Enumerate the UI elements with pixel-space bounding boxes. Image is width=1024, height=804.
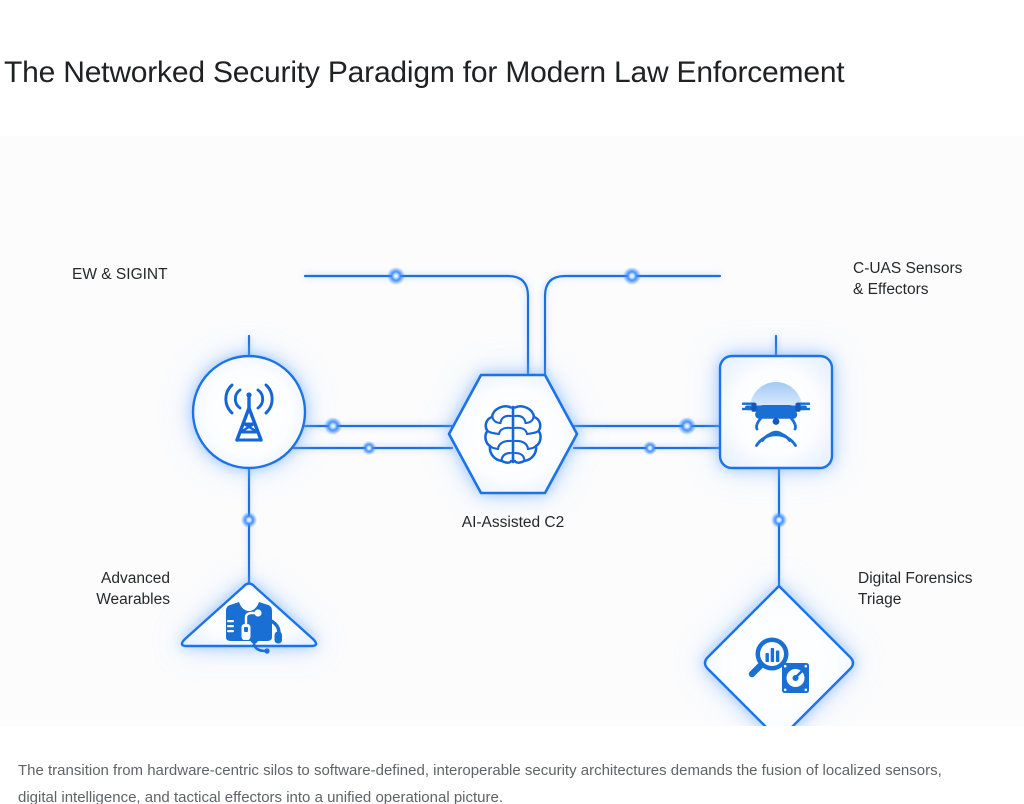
pulse-dot — [643, 441, 657, 455]
node-label-digital-forensics: Digital Forensics Triage — [858, 568, 973, 610]
diagram-page: The Networked Security Paradigm for Mode… — [0, 0, 1024, 804]
pulse-dot — [678, 417, 696, 435]
diagram-panel: EW & SIGINT C-UAS Sensors & Effectors AI… — [0, 136, 1024, 726]
pulse-dot — [623, 267, 641, 285]
node-label-ai-assisted-c2: AI-Assisted C2 — [400, 512, 626, 533]
diagram-caption: The transition from hardware-centric sil… — [18, 757, 982, 804]
pulse-dot — [324, 417, 342, 435]
pulse-dot — [771, 512, 787, 528]
pulse-dot — [387, 267, 405, 285]
wire-ew-to-c2-top — [305, 276, 528, 374]
wire-cuas-to-c2-top — [545, 276, 720, 374]
pulse-dot — [241, 512, 257, 528]
node-label-advanced-wearables: Advanced Wearables — [20, 568, 170, 610]
diagram-canvas — [0, 136, 1024, 726]
node-label-c-uas: C-UAS Sensors & Effectors — [853, 258, 962, 300]
node-ai-assisted-c2[interactable] — [449, 375, 577, 566]
node-label-ew-sigint: EW & SIGINT — [72, 264, 168, 285]
pulse-dot — [362, 441, 376, 455]
page-title: The Networked Security Paradigm for Mode… — [4, 50, 904, 96]
